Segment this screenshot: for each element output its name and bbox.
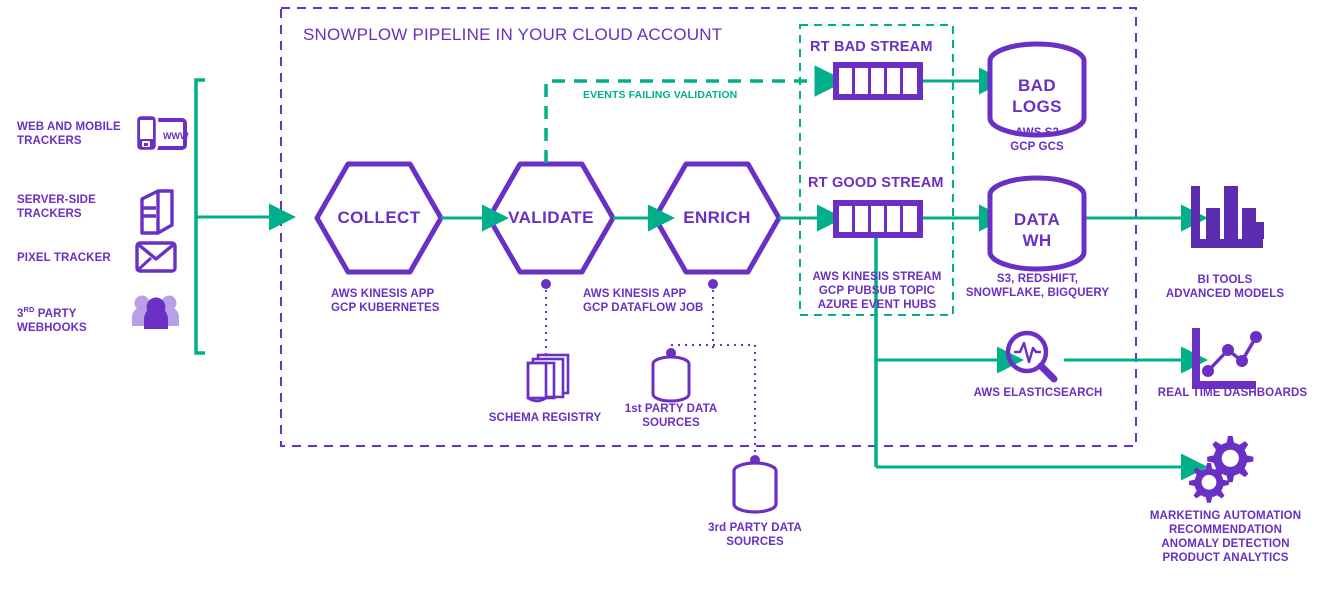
elasticsearch-caption: AWS ELASTICSEARCH bbox=[963, 386, 1113, 400]
failing-validation-label: EVENTS FAILING VALIDATION bbox=[583, 89, 737, 101]
caption-line: SOURCES bbox=[642, 417, 700, 429]
source-label-line: WEB AND MOBILE bbox=[17, 121, 121, 133]
caption-line: MARKETING AUTOMATION bbox=[1150, 510, 1301, 522]
web-mobile-icon: WWW bbox=[136, 115, 189, 151]
real-time-dashboards-caption: REAL TIME DASHBOARDS bbox=[1150, 386, 1315, 400]
line-chart-icon bbox=[1196, 331, 1262, 385]
rt-good-stream-title: RT GOOD STREAM bbox=[808, 175, 944, 191]
webhooks-sup: RD bbox=[24, 305, 35, 314]
source-label-line: TRACKERS bbox=[17, 135, 82, 147]
caption-line: ADVANCED MODELS bbox=[1166, 288, 1284, 300]
source-label-pixel-tracker: PIXEL TRACKER bbox=[17, 251, 111, 265]
stage-label-enrich: ENRICH bbox=[655, 208, 779, 228]
schema-registry-caption: SCHEMA REGISTRY bbox=[485, 411, 605, 425]
people-icon bbox=[132, 296, 179, 330]
gears-icon bbox=[1189, 436, 1253, 503]
caption-line: PRODUCT ANALYTICS bbox=[1162, 552, 1288, 564]
diagram-canvas: WWW SNOWPLOW PIPELINE IN YOUR CLOUD ACCO… bbox=[0, 0, 1317, 592]
third-party-cylinder bbox=[734, 463, 776, 512]
caption-line: S3, REDSHIFT, bbox=[997, 273, 1078, 285]
envelope-icon bbox=[137, 243, 175, 271]
stage-label-collect: COLLECT bbox=[317, 208, 441, 228]
documents-icon bbox=[528, 355, 568, 401]
first-party-cylinder bbox=[653, 357, 689, 401]
store-line: BAD bbox=[1018, 76, 1056, 95]
caption-line: AWS KINESIS APP bbox=[331, 288, 434, 300]
caption-line: AWS KINESIS APP bbox=[583, 288, 686, 300]
bi-tools-caption: BI TOOLS ADVANCED MODELS bbox=[1155, 273, 1295, 301]
caption-line: GCP PUBSUB TOPIC bbox=[819, 285, 935, 297]
first-party-caption: 1st PARTY DATA SOURCES bbox=[611, 402, 731, 430]
store-line: DATA bbox=[1014, 210, 1060, 229]
source-label-server-side: SERVER-SIDE TRACKERS bbox=[17, 193, 96, 221]
caption-line: AWS S3 bbox=[1015, 127, 1059, 139]
caption-validate: AWS KINESIS APP GCP DATAFLOW JOB bbox=[583, 287, 703, 315]
rt-bad-stream-title: RT BAD STREAM bbox=[810, 39, 933, 55]
caption-line: BI TOOLS bbox=[1198, 274, 1253, 286]
webhooks-suffix: PARTY bbox=[35, 308, 77, 320]
magnifier-pulse-icon bbox=[1008, 333, 1054, 379]
source-label-line: SERVER-SIDE bbox=[17, 194, 96, 206]
stage-label-validate: VALIDATE bbox=[489, 208, 613, 228]
applications-caption: MARKETING AUTOMATION RECOMMENDATION ANOM… bbox=[1133, 509, 1317, 565]
svg-text:WWW: WWW bbox=[163, 131, 189, 141]
data-wh-label: DATA WH bbox=[990, 209, 1084, 251]
streams-caption: AWS KINESIS STREAM GCP PUBSUB TOPIC AZUR… bbox=[801, 270, 953, 312]
bad-logs-caption: AWS S3 GCP GCS bbox=[980, 126, 1094, 154]
caption-line: SNOWFLAKE, BIGQUERY bbox=[966, 287, 1109, 299]
source-label-line: WEBHOOKS bbox=[17, 322, 87, 334]
caption-line: ANOMALY DETECTION bbox=[1161, 538, 1289, 550]
caption-line: RECOMMENDATION bbox=[1169, 524, 1282, 536]
rt-bad-stream-icon bbox=[833, 62, 923, 100]
data-wh-caption: S3, REDSHIFT, SNOWFLAKE, BIGQUERY bbox=[960, 272, 1115, 300]
bad-logs-label: BAD LOGS bbox=[990, 75, 1084, 117]
store-line: WH bbox=[1022, 231, 1051, 250]
third-party-caption: 3rd PARTY DATA SOURCES bbox=[695, 521, 815, 549]
schema-registry-connector bbox=[541, 279, 551, 355]
source-label-webhooks: 3RD PARTY WEBHOOKS bbox=[17, 303, 87, 335]
caption-line: SOURCES bbox=[726, 536, 784, 548]
caption-line: 3rd PARTY DATA bbox=[708, 522, 802, 534]
rt-good-stream-icon bbox=[833, 200, 923, 238]
caption-line: GCP DATAFLOW JOB bbox=[583, 302, 703, 314]
server-icon bbox=[142, 191, 172, 233]
store-line: LOGS bbox=[1012, 97, 1062, 116]
caption-line: 1st PARTY DATA bbox=[625, 403, 718, 415]
caption-collect: AWS KINESIS APP GCP KUBERNETES bbox=[331, 287, 440, 315]
caption-line: AWS KINESIS STREAM bbox=[813, 271, 942, 283]
caption-line: GCP GCS bbox=[1010, 141, 1064, 153]
caption-line: GCP KUBERNETES bbox=[331, 302, 440, 314]
bar-chart-icon bbox=[1191, 186, 1264, 248]
source-label-line: TRACKERS bbox=[17, 208, 82, 220]
page-title: SNOWPLOW PIPELINE IN YOUR CLOUD ACCOUNT bbox=[303, 25, 722, 45]
caption-line: AZURE EVENT HUBS bbox=[818, 299, 937, 311]
source-label-web-mobile: WEB AND MOBILE TRACKERS bbox=[17, 120, 121, 148]
